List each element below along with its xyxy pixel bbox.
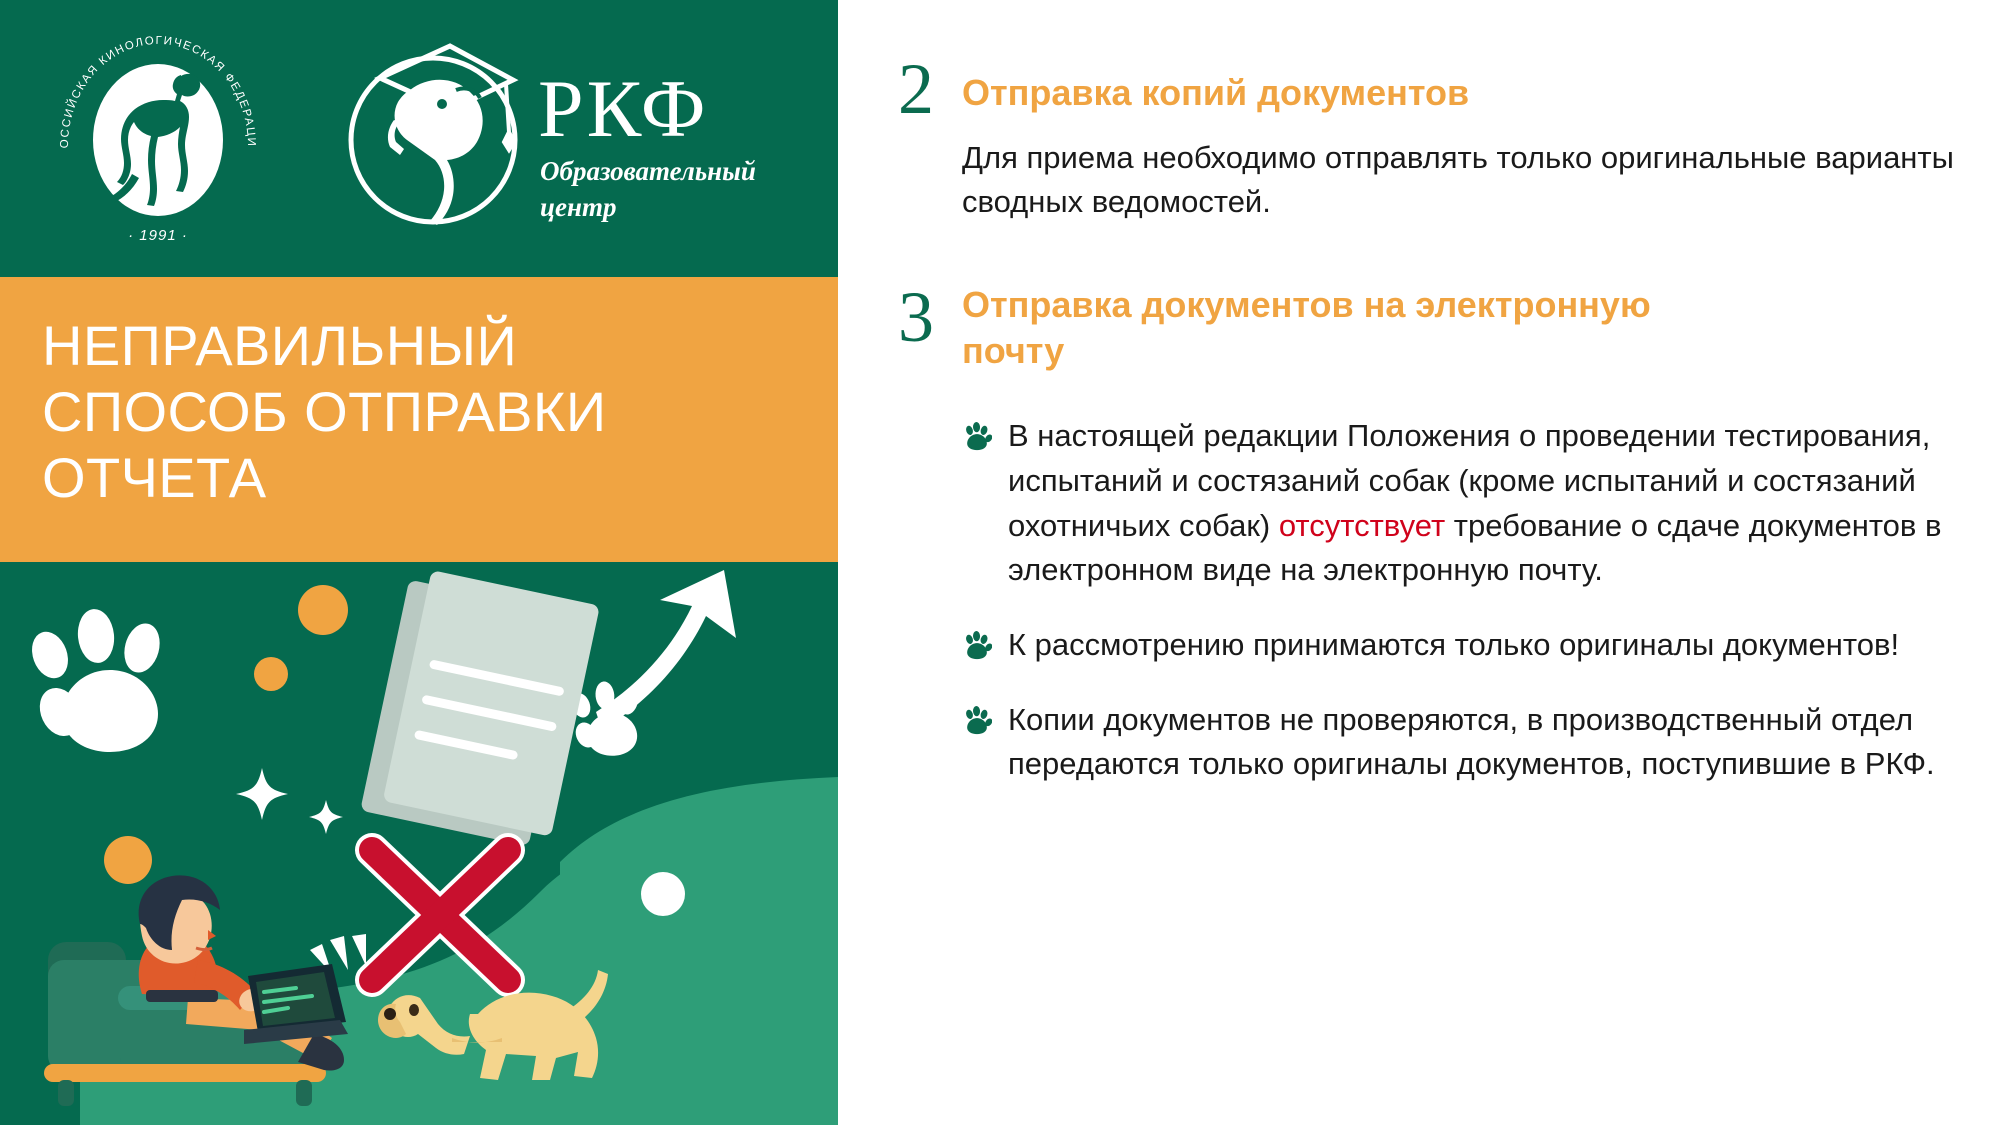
paw-bullet-icon [962, 421, 992, 451]
list-item: В настоящей редакции Положения о проведе… [962, 414, 1960, 593]
list-item: К рассмотрению принимаются только оригин… [962, 623, 1960, 668]
page-title-line1: НЕПРАВИЛЬНЫЙ [42, 314, 517, 377]
logo-line2: центр [540, 192, 617, 222]
right-panel: 2 Отправка копий документов Для приема н… [838, 0, 2000, 1125]
rkf-seal-logo: РОССИЙСКАЯ КИНОЛОГИЧЕСКАЯ ФЕДЕРАЦИЯ · 19… [48, 24, 268, 252]
content-column: 2 Отправка копий документов Для приема н… [898, 56, 1960, 817]
list-item-text-pre: Копии документов не проверяются, в произ… [1008, 702, 1935, 782]
title-banner: НЕПРАВИЛЬНЫЙСПОСОБ ОТПРАВКИОТЧЕТА [0, 277, 838, 562]
list-item-text-pre: К рассмотрению принимаются только оригин… [1008, 627, 1899, 662]
dot-decoration [104, 836, 152, 884]
section-3-bullet-list: В настоящей редакции Положения о проведе… [962, 414, 1960, 786]
paw-bullet-icon [962, 705, 992, 735]
paw-bullet-icon [962, 630, 992, 660]
education-center-logo: РКФ Образовательный центр [338, 28, 788, 238]
page-title-line3: ОТЧЕТА [42, 446, 267, 509]
dot-decoration [641, 872, 685, 916]
page-title: НЕПРАВИЛЬНЫЙСПОСОБ ОТПРАВКИОТЧЕТА [42, 313, 802, 511]
section-3: 3 Отправка документов на электронную поч… [898, 268, 1960, 787]
list-item: Копии документов не проверяются, в произ… [962, 698, 1960, 787]
laptop-icon [244, 964, 348, 1044]
logo-line1: Образовательный [540, 156, 756, 186]
illustration-artwork [0, 562, 838, 1125]
list-item-text-highlight: отсутствует [1279, 508, 1445, 543]
page-title-line2: СПОСОБ ОТПРАВКИ [42, 380, 607, 443]
dog-graduate-icon [351, 46, 515, 225]
section-3-title: Отправка документов на электронную почту [962, 268, 1722, 374]
section-2-title: Отправка копий документов [962, 56, 1722, 116]
section-2-number: 2 [898, 56, 962, 122]
brand-bar: РОССИЙСКАЯ КИНОЛОГИЧЕСКАЯ ФЕДЕРАЦИЯ · 19… [0, 0, 838, 277]
section-2-header: 2 Отправка копий документов [898, 56, 1960, 122]
section-3-body: В настоящей редакции Положения о проведе… [962, 374, 1960, 786]
illustration-panel [0, 562, 838, 1125]
slide-root: РОССИЙСКАЯ КИНОЛОГИЧЕСКАЯ ФЕДЕРАЦИЯ · 19… [0, 0, 2000, 1125]
left-panel: РОССИЙСКАЯ КИНОЛОГИЧЕСКАЯ ФЕДЕРАЦИЯ · 19… [0, 0, 838, 1125]
section-2-paragraph: Для приема необходимо отправлять только … [962, 136, 1960, 224]
seal-year: · 1991 · [128, 227, 188, 244]
logo-abbr: РКФ [538, 63, 708, 154]
dot-decoration [298, 585, 348, 635]
section-2-body: Для приема необходимо отправлять только … [962, 122, 1960, 224]
section-3-header: 3 Отправка документов на электронную поч… [898, 268, 1960, 374]
section-2: 2 Отправка копий документов Для приема н… [898, 56, 1960, 224]
section-3-number: 3 [898, 268, 962, 350]
dot-decoration [254, 657, 288, 691]
